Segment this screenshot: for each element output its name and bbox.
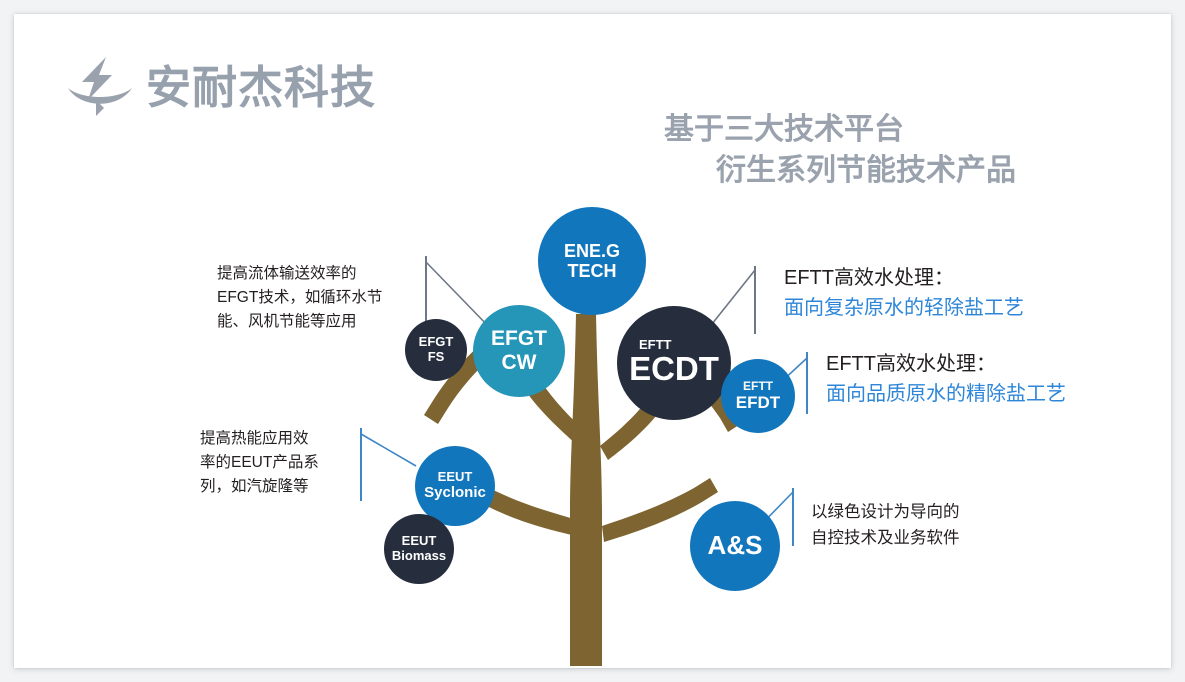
node-efgt-cw[interactable]: EFGT CW [473, 305, 565, 397]
callout-eftt-ecdt: EFTT高效水处理： 面向复杂原水的轻除盐工艺 [784, 263, 1114, 323]
node-eeut-biomass-sub: EEUT [402, 534, 437, 549]
node-ene-g-tech-label: ENE.G TECH [538, 241, 646, 281]
callout-eftt-efdt-title: EFTT高效水处理： [826, 349, 1156, 379]
callout-eeut: 提高热能应用效 率的EEUT产品系 列，如汽旋隆等 [200, 427, 365, 499]
callout-eeut-line-3: 列，如汽旋隆等 [200, 475, 365, 499]
slide-root: 安耐杰科技 基于三大技术平台 衍生系列节能技术产品 [0, 0, 1185, 682]
callout-as: 以绿色设计为导向的 自控技术及业务软件 [811, 499, 1041, 552]
node-efgt-cw-sub: EFGT [491, 327, 547, 351]
tree-diagram [14, 14, 1171, 668]
node-efgt-cw-label: CW [502, 351, 537, 375]
callout-eeut-line-1: 提高热能应用效 [200, 427, 365, 451]
callout-efgt-line-1: 提高流体输送效率的 [217, 262, 422, 286]
node-eftt-efdt-label: EFDT [736, 393, 780, 412]
callout-as-line-1: 以绿色设计为导向的 [811, 499, 1041, 525]
node-eeut-syclonic-sub: EEUT [438, 470, 473, 485]
callout-efgt-line-2: EFGT技术，如循环水节 [217, 286, 422, 310]
callout-as-line-2: 自控技术及业务软件 [811, 525, 1041, 551]
callout-efgt: 提高流体输送效率的 EFGT技术，如循环水节 能、风机节能等应用 [217, 262, 422, 334]
node-ene-g-tech[interactable]: ENE.G TECH [538, 207, 646, 315]
node-efgt-fs-sub: EFGT [419, 335, 454, 350]
callout-eftt-efdt: EFTT高效水处理： 面向品质原水的精除盐工艺 [826, 349, 1156, 409]
node-eftt-efdt[interactable]: EFTT EFDT [721, 359, 795, 433]
callout-efgt-line-3: 能、风机节能等应用 [217, 310, 422, 334]
node-eeut-biomass[interactable]: EEUT Biomass [384, 514, 454, 584]
node-efgt-fs-label: FS [428, 350, 445, 365]
node-a-and-s-label: A&S [708, 531, 763, 560]
node-a-and-s[interactable]: A&S [690, 501, 780, 591]
node-ecdt-label: ECDT [629, 351, 719, 388]
callout-eftt-ecdt-title: EFTT高效水处理： [784, 263, 1114, 293]
callout-eftt-ecdt-detail: 面向复杂原水的轻除盐工艺 [784, 293, 1114, 323]
node-eeut-syclonic-label: Syclonic [424, 485, 486, 502]
slide-card: 安耐杰科技 基于三大技术平台 衍生系列节能技术产品 [14, 14, 1171, 668]
callout-eeut-line-2: 率的EEUT产品系 [200, 451, 365, 475]
node-eftt-efdt-sub: EFTT [743, 380, 773, 393]
callout-eftt-efdt-detail: 面向品质原水的精除盐工艺 [826, 379, 1156, 409]
node-eeut-biomass-label: Biomass [392, 549, 446, 564]
node-ecdt[interactable]: EFTT ECDT [617, 306, 731, 420]
